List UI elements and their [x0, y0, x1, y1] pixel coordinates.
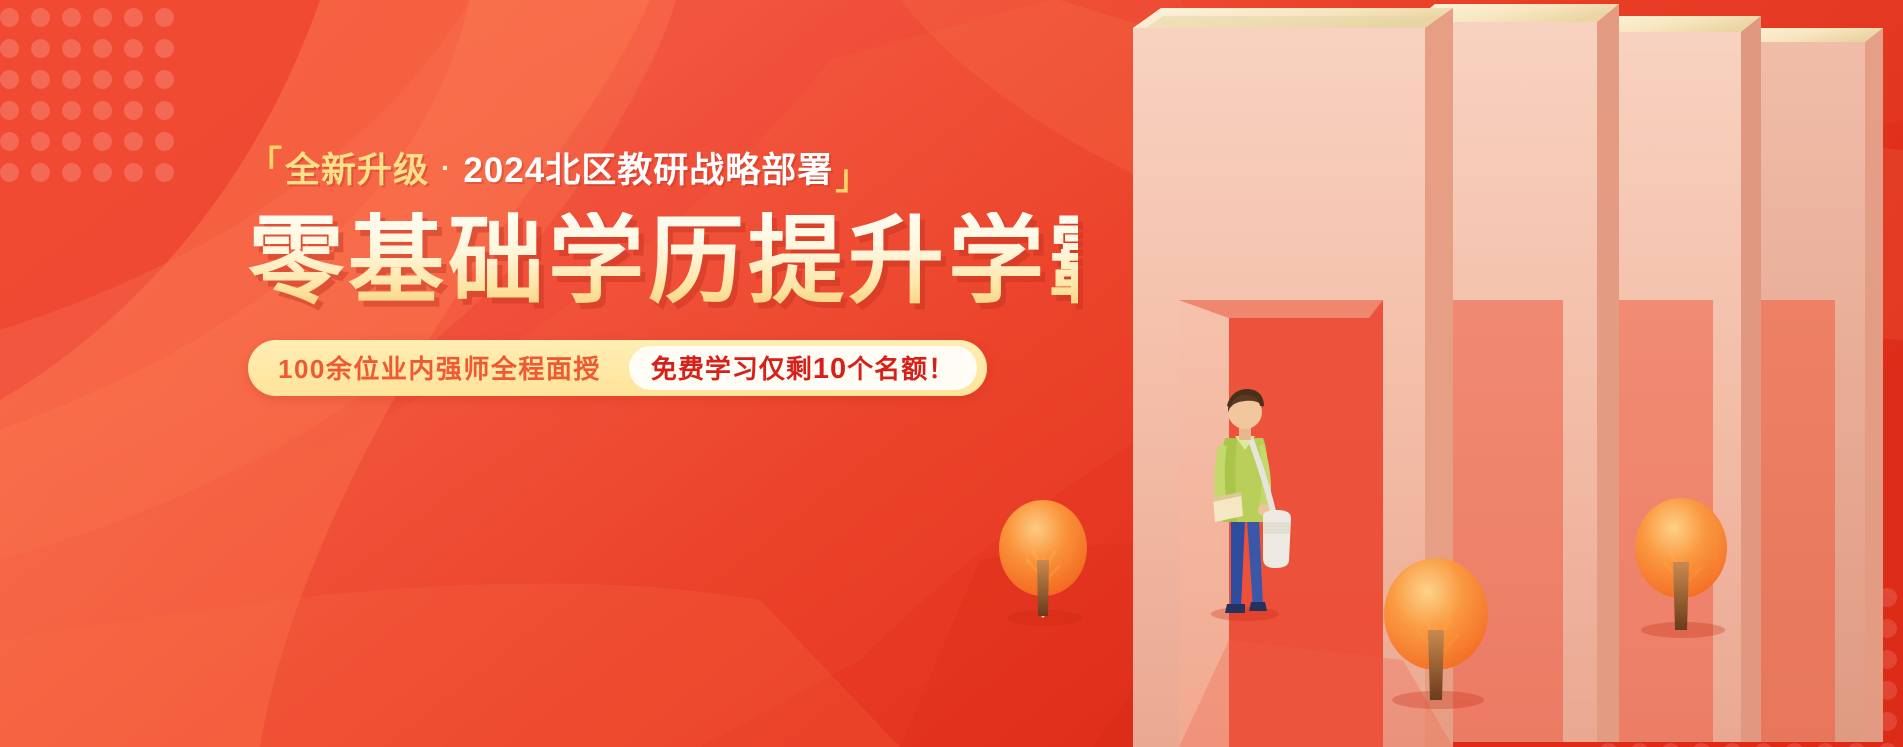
pill-left-label: 100余位业内强师全程面授 [278, 349, 629, 386]
page-title: 零基础学历提升学霸班 [248, 212, 1078, 312]
illustration-svg [983, 0, 1903, 747]
subtitle-white-text: 2024北区教研战略部署 [461, 153, 835, 188]
tree-left [999, 500, 1087, 626]
dot-grid-top-left [0, 2, 176, 192]
bracket-close: 」 [835, 161, 870, 195]
pill-capsule: 免费学习仅剩10个名额！ [629, 346, 977, 390]
subtitle: 「 全新升级 · 2024北区教研战略部署 」 [248, 146, 1078, 194]
subtitle-separator: · [431, 154, 461, 182]
pill-right-number: 10 [813, 353, 847, 385]
pill-right-suffix: 个名额！ [847, 354, 955, 384]
copy-block: 「 全新升级 · 2024北区教研战略部署 」 零基础学历提升学霸班 100余位… [248, 146, 1078, 396]
pill-right-label: 免费学习仅剩10个名额！ [651, 349, 955, 386]
subtitle-gold-text: 全新升级 [283, 153, 431, 188]
promo-banner: 「 全新升级 · 2024北区教研战略部署 」 零基础学历提升学霸班 100余位… [0, 0, 1903, 747]
bracket-open: 「 [248, 147, 283, 181]
pill-right-prefix: 免费学习仅剩 [651, 354, 813, 384]
book-arch-illustration [983, 0, 1903, 747]
highlight-pill: 100余位业内强师全程面授 免费学习仅剩10个名额！ [248, 340, 987, 396]
